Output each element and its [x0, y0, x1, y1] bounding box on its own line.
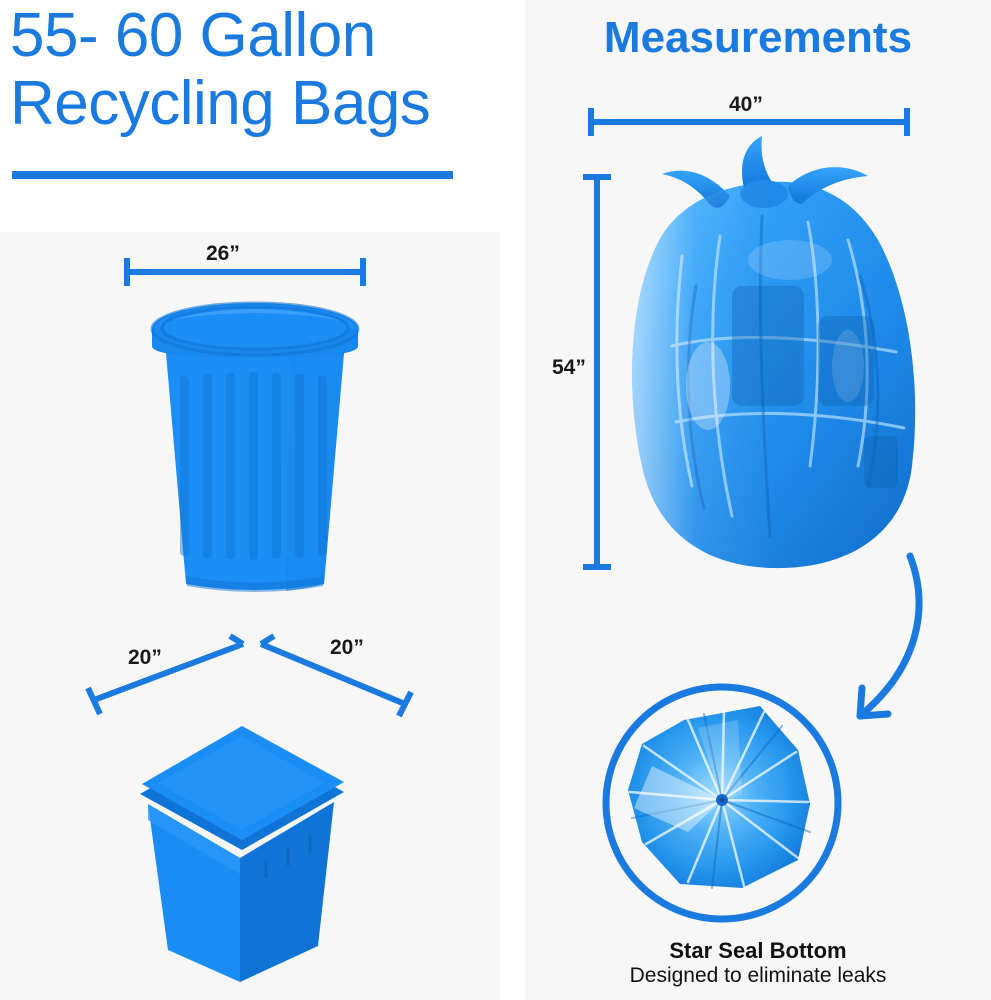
- round-bin-dimension-cap-right: [360, 258, 366, 286]
- star-seal-caption-title: Star Seal Bottom: [525, 938, 991, 964]
- bag-height-dimension-cap-top: [583, 174, 611, 180]
- filled-recycling-bag: [612, 136, 932, 576]
- star-seal-bottom-illustration: [592, 682, 852, 934]
- square-recycling-bin: [118, 698, 368, 983]
- infographic-page: 55- 60 Gallon Recycling Bags Measurement…: [0, 0, 991, 1000]
- bag-height-dimension-label: 54”: [552, 356, 586, 380]
- round-bin-dimension-line: [124, 269, 366, 275]
- bag-height-dimension-line: [594, 174, 600, 570]
- round-bin-dimension-label: 26”: [206, 242, 240, 266]
- curved-arrow-icon: [838, 548, 948, 738]
- measurements-heading: Measurements: [525, 12, 991, 64]
- bag-width-dimension-label: 40”: [729, 93, 763, 117]
- page-title: 55- 60 Gallon Recycling Bags: [10, 2, 510, 138]
- round-bin-dimension-cap-left: [124, 258, 130, 286]
- star-seal-caption-subtitle: Designed to eliminate leaks: [525, 964, 991, 988]
- bag-width-dimension-cap-left: [588, 108, 594, 136]
- bag-width-dimension-cap-right: [904, 108, 910, 136]
- bag-height-dimension-cap-bottom: [583, 564, 611, 570]
- title-divider: [12, 171, 453, 179]
- round-recycling-bin: [140, 296, 370, 594]
- bag-width-dimension-line: [588, 119, 910, 125]
